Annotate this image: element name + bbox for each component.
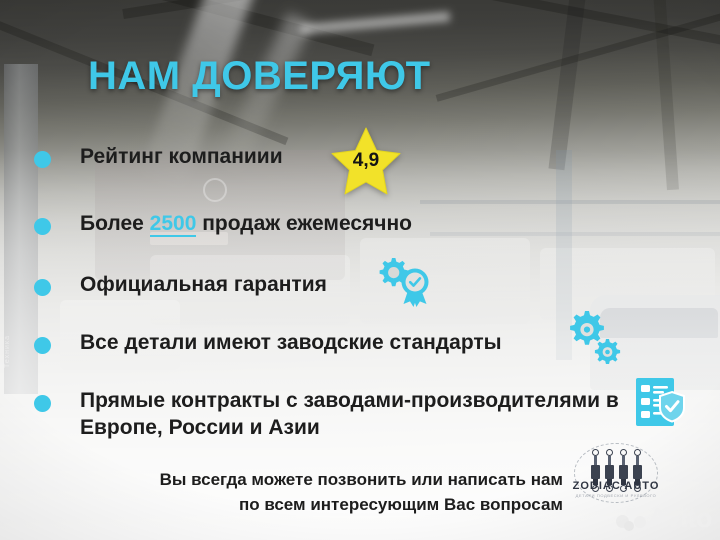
document-shield-icon <box>632 376 686 428</box>
sales-text-after: продаж ежемесячно <box>196 212 412 235</box>
bullet-dot-icon <box>34 337 51 354</box>
avito-watermark: Avito <box>616 503 712 534</box>
list-item-rating: Рейтинг компаниии <box>34 144 283 171</box>
bullet-dot-icon <box>34 395 51 412</box>
logo-name: ZODIAC AUTO <box>568 480 664 492</box>
list-item-warranty: Официальная гарантия <box>34 272 327 299</box>
list-item-label: Прямые контракты с заводами-производител… <box>80 388 625 442</box>
bullet-dot-icon <box>34 218 51 235</box>
star-rating-badge: 4,9 <box>330 126 402 196</box>
list-item-factory-standards: Все детали имеют заводские стандарты <box>34 330 502 357</box>
gear-award-icon <box>372 256 434 314</box>
list-item-label: Более 2500 продаж ежемесячно <box>80 211 412 238</box>
list-item-label: Все детали имеют заводские стандарты <box>80 330 502 357</box>
sales-text-before: Более <box>80 212 150 235</box>
promo-slide: NORDBERG Техника НАМ ДОВЕРЯЮТ Рейтинг ко… <box>0 0 720 540</box>
sales-count-highlight: 2500 <box>150 212 197 237</box>
avito-wordmark: Avito <box>648 503 712 534</box>
bullet-dot-icon <box>34 279 51 296</box>
avito-logo-icon <box>616 506 646 532</box>
company-logo: ZODIAC AUTO ДЕТАЛИ ПОДВЕСКИ И РУЛЕВОГО <box>568 443 664 511</box>
list-item-label: Рейтинг компаниии <box>80 144 283 171</box>
slide-content: НАМ ДОВЕРЯЮТ Рейтинг компаниии Более 250… <box>0 0 720 540</box>
contact-footnote: Вы всегда можете позвонить или написать … <box>160 468 563 517</box>
list-item-sales: Более 2500 продаж ежемесячно <box>34 211 412 238</box>
bullet-dot-icon <box>34 151 51 168</box>
rating-value: 4,9 <box>330 150 402 172</box>
list-item-direct-contracts: Прямые контракты с заводами-производител… <box>34 388 625 442</box>
footnote-line-1: Вы всегда можете позвонить или написать … <box>160 468 563 493</box>
list-item-label: Официальная гарантия <box>80 272 327 299</box>
gears-icon <box>566 310 622 364</box>
page-title: НАМ ДОВЕРЯЮТ <box>88 54 431 99</box>
footnote-line-2: по всем интересующим Вас вопросам <box>160 493 563 518</box>
logo-tagline: ДЕТАЛИ ПОДВЕСКИ И РУЛЕВОГО <box>568 493 664 498</box>
